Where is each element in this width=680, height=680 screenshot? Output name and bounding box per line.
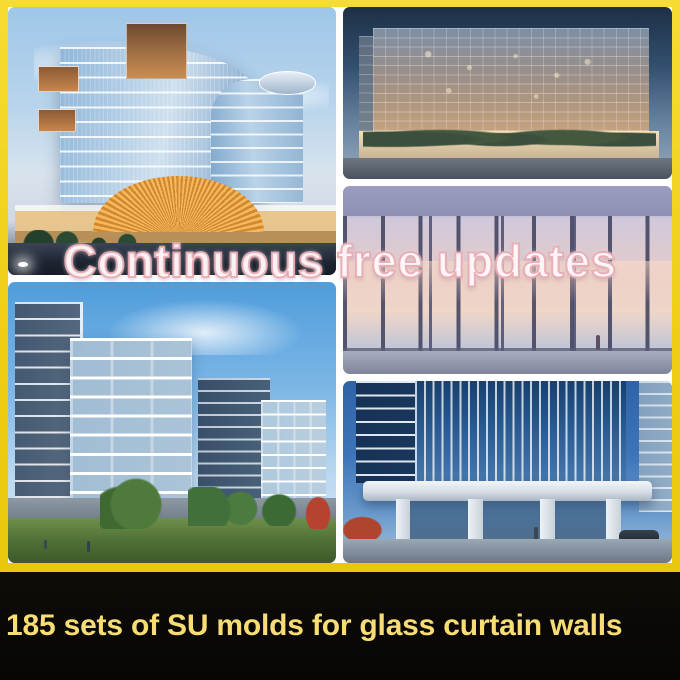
- panel-curved-tower[interactable]: [8, 7, 336, 275]
- image-collage: [8, 7, 672, 563]
- sunset-reflection: [343, 261, 672, 302]
- pedestrian-figure: [596, 335, 600, 350]
- caption-title: 185 sets of SU molds for glass curtain w…: [0, 609, 622, 643]
- tower-glass-fins-facade: [415, 381, 626, 490]
- car-headlight: [18, 262, 28, 267]
- entrance-canopy: [363, 481, 653, 501]
- street-trees: [363, 127, 656, 161]
- collage-left-column: [8, 7, 336, 563]
- tower-side-facade: [356, 381, 422, 483]
- panel-tower-entrance[interactable]: [343, 381, 672, 563]
- entrance-column: [396, 499, 411, 543]
- cantilever-box: [38, 66, 79, 92]
- rooftop-disc-pavilion: [259, 71, 317, 94]
- street-ground: [343, 158, 672, 179]
- lit-window-pattern: [382, 35, 639, 131]
- foreground-tree: [100, 468, 172, 530]
- street-ground: [8, 243, 336, 275]
- collage-right-column: [343, 7, 672, 563]
- canopy-soffit: [343, 186, 672, 218]
- entrance-column: [468, 499, 483, 543]
- poster: Continuous free updates 185 sets of SU m…: [0, 0, 680, 680]
- lobby-glazing: [409, 501, 620, 541]
- entrance-column: [540, 499, 555, 543]
- caption-bar: 185 sets of SU molds for glass curtain w…: [0, 572, 680, 680]
- panel-curtain-wall-detail[interactable]: [343, 186, 672, 374]
- panel-office-blocks[interactable]: [8, 282, 336, 563]
- red-foliage-tree: [303, 493, 333, 530]
- pedestrian-figure: [87, 541, 90, 552]
- cantilever-box: [38, 109, 76, 132]
- collage-yellow-frame: Continuous free updates: [0, 0, 680, 572]
- entrance-driveway: [343, 539, 672, 563]
- panel-dusk-office-slab[interactable]: [343, 7, 672, 179]
- pedestrian-figure: [44, 540, 47, 549]
- paving-ground: [343, 351, 672, 374]
- rooftop-box-volume: [126, 23, 187, 79]
